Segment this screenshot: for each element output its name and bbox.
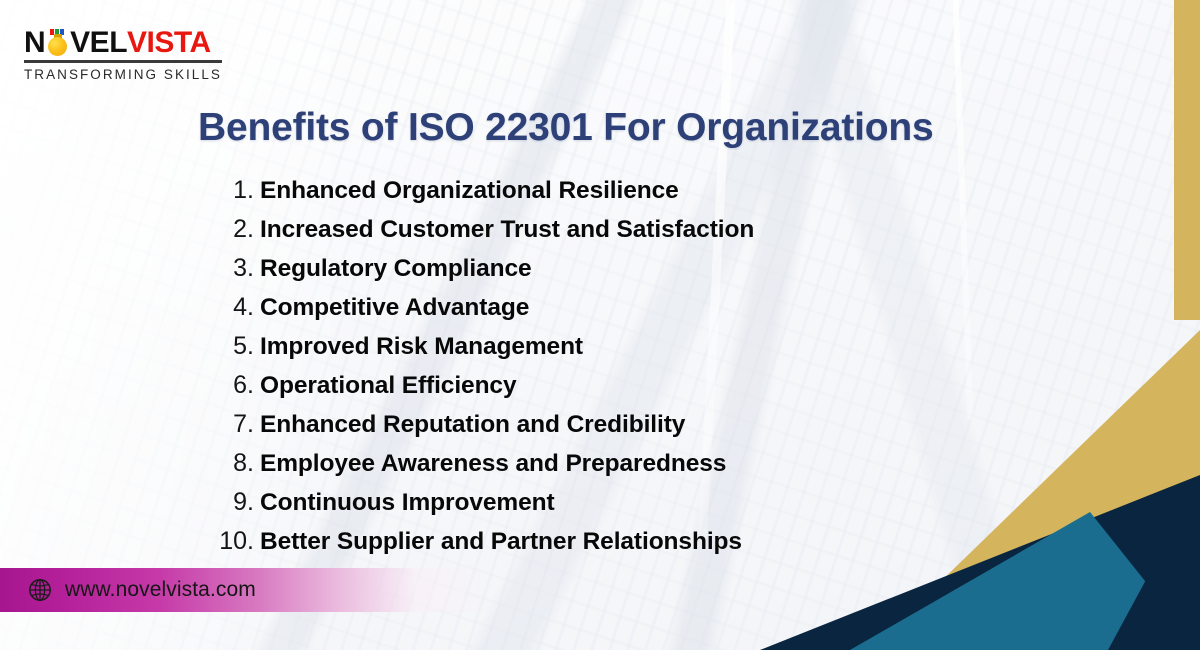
logo-wordmark: N VEL VISTA	[24, 28, 224, 58]
page-title: Benefits of ISO 22301 For Organizations	[198, 106, 1098, 150]
list-item: 3.Regulatory Compliance	[120, 254, 980, 293]
list-item: 7.Enhanced Reputation and Credibility	[120, 410, 980, 449]
list-item-label: Employee Awareness and Preparedness	[260, 450, 726, 478]
list-item: 5.Improved Risk Management	[120, 332, 980, 371]
list-item-number: 5.	[120, 332, 260, 361]
list-item-label: Enhanced Reputation and Credibility	[260, 411, 685, 439]
list-item-number: 8.	[120, 449, 260, 478]
list-item: 8.Employee Awareness and Preparedness	[120, 449, 980, 488]
list-item-number: 7.	[120, 410, 260, 439]
footer-url-text[interactable]: www.novelvista.com	[65, 578, 256, 602]
list-item-label: Operational Efficiency	[260, 372, 517, 400]
list-item: 4.Competitive Advantage	[120, 293, 980, 332]
list-item-number: 1.	[120, 176, 260, 205]
list-item-number: 3.	[120, 254, 260, 283]
list-item-label: Continuous Improvement	[260, 489, 555, 517]
globe-icon	[28, 578, 52, 602]
list-item-number: 4.	[120, 293, 260, 322]
list-item-label: Better Supplier and Partner Relationship…	[260, 528, 742, 556]
list-item-number: 10.	[120, 527, 260, 556]
list-item-number: 6.	[120, 371, 260, 400]
list-item-label: Competitive Advantage	[260, 294, 529, 322]
list-item-number: 2.	[120, 215, 260, 244]
list-item: 9.Continuous Improvement	[120, 488, 980, 527]
slide-canvas: N VEL VISTA TRANSFORMING SKILLS Benefits…	[0, 0, 1200, 650]
list-item-label: Regulatory Compliance	[260, 255, 532, 283]
footer-bar: www.novelvista.com	[0, 568, 800, 612]
benefits-list: 1.Enhanced Organizational Resilience2.In…	[120, 176, 980, 566]
list-item-label: Improved Risk Management	[260, 333, 583, 361]
navy-corner-shape	[1060, 480, 1200, 650]
logo-divider	[24, 60, 222, 63]
list-item: 2.Increased Customer Trust and Satisfact…	[120, 215, 980, 254]
list-item: 10.Better Supplier and Partner Relations…	[120, 527, 980, 566]
gold-accent-bar	[1174, 0, 1200, 320]
lightbulb-icon	[46, 30, 69, 57]
list-item-label: Increased Customer Trust and Satisfactio…	[260, 216, 754, 244]
logo-tagline: TRANSFORMING SKILLS	[24, 67, 224, 82]
logo-text-n: N	[24, 28, 45, 58]
list-item: 1.Enhanced Organizational Resilience	[120, 176, 980, 215]
list-item-label: Enhanced Organizational Resilience	[260, 177, 679, 205]
logo-text-vel: VEL	[70, 28, 127, 58]
list-item: 6.Operational Efficiency	[120, 371, 980, 410]
logo-text-vista: VISTA	[127, 28, 211, 58]
bulb-glass	[48, 37, 67, 56]
brand-logo[interactable]: N VEL VISTA TRANSFORMING SKILLS	[24, 28, 224, 82]
list-item-number: 9.	[120, 488, 260, 517]
